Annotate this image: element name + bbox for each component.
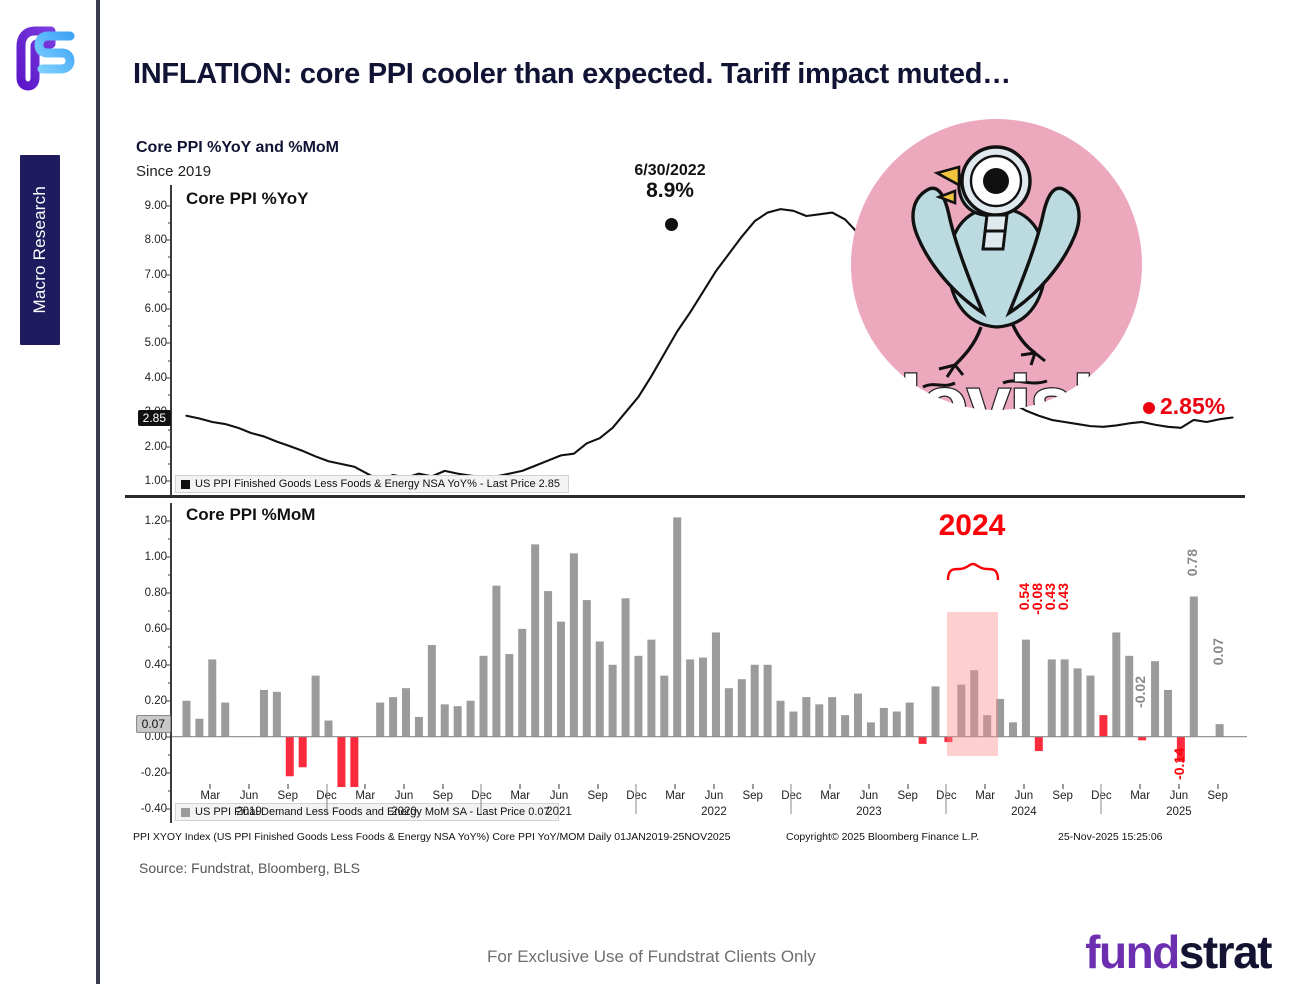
mom-bar xyxy=(1086,676,1094,737)
mom-bar xyxy=(596,641,604,736)
mom-bar xyxy=(673,517,681,736)
y-tick-mark-minor xyxy=(168,682,172,683)
mom-bar xyxy=(867,722,875,736)
bloomberg-timestamp: 25-Nov-2025 15:25:06 xyxy=(1058,831,1163,843)
peak-annotation: 6/30/2022 8.9% xyxy=(634,163,705,202)
x-year-label: 2025 xyxy=(1166,806,1192,818)
x-tick-label: Jun xyxy=(860,790,879,802)
bar-value-label: 0.43 xyxy=(1055,583,1071,610)
x-tick-label: Jun xyxy=(1170,790,1189,802)
mom-last-price-badge: 0.07 xyxy=(136,715,171,733)
y-tick-label: 1.00 xyxy=(145,475,167,487)
y-tick-mark xyxy=(166,274,172,275)
y-tick-mark-minor xyxy=(168,574,172,575)
mom-bar xyxy=(815,704,823,736)
y-tick-mark-minor xyxy=(168,257,172,258)
mom-bar xyxy=(428,645,436,737)
y-tick-mark-minor xyxy=(168,646,172,647)
x-tick-label: Sep xyxy=(433,790,453,802)
y-tick-label: -0.40 xyxy=(141,803,167,815)
x-tick-mark xyxy=(830,784,831,789)
mom-bar xyxy=(337,737,345,787)
x-tick-label: Mar xyxy=(975,790,995,802)
mom-bar xyxy=(350,737,358,787)
mom-bar xyxy=(712,632,720,736)
peak-value: 8.9% xyxy=(634,180,705,202)
y-tick-label: 1.00 xyxy=(145,551,167,563)
macro-research-badge: Macro Research xyxy=(20,155,60,345)
bloomberg-copyright: Copyright© 2025 Bloomberg Finance L.P. xyxy=(786,831,979,843)
y-tick-mark-minor xyxy=(168,429,172,430)
mom-bar xyxy=(686,659,694,736)
x-tick-mark xyxy=(249,784,250,789)
y-tick-mark xyxy=(166,592,172,593)
y-tick-label: 1.20 xyxy=(145,515,167,527)
mom-bar xyxy=(660,676,668,737)
x-tick-label: Jun xyxy=(550,790,569,802)
y-tick-mark xyxy=(166,736,172,737)
mom-bar xyxy=(1216,724,1224,737)
mom-bar-series xyxy=(172,503,1247,823)
mom-bar xyxy=(195,719,203,737)
x-tick-mark xyxy=(442,784,443,789)
x-tick-mark xyxy=(713,784,714,789)
mom-bar xyxy=(583,600,591,737)
y-tick-mark xyxy=(166,628,172,629)
y-tick-mark xyxy=(166,700,172,701)
last-value-label: 2.85% xyxy=(1160,393,1225,420)
x-tick-mark xyxy=(1062,784,1063,789)
y-tick-label: -0.20 xyxy=(141,767,167,779)
mom-bar xyxy=(1009,722,1017,736)
mom-bar xyxy=(557,622,565,737)
x-tick-mark xyxy=(365,784,366,789)
x-tick-mark xyxy=(1217,784,1218,789)
bar-value-label: 0.07 xyxy=(1210,638,1226,665)
mom-bar xyxy=(751,665,759,737)
y-tick-label: 0.40 xyxy=(145,659,167,671)
fundstrat-f-logo-icon xyxy=(18,26,80,90)
fundstrat-wordmark-strat: strat xyxy=(1179,926,1271,978)
x-tick-mark xyxy=(287,784,288,789)
x-year-divider xyxy=(1101,784,1102,814)
x-tick-label: Sep xyxy=(897,790,917,802)
highlight-brace-icon xyxy=(947,563,999,581)
x-tick-label: Mar xyxy=(200,790,220,802)
source-note: Source: Fundstrat, Bloomberg, BLS xyxy=(139,860,360,876)
yoy-legend-swatch xyxy=(181,480,190,489)
x-tick-label: Sep xyxy=(1052,790,1072,802)
mom-bar xyxy=(828,697,836,737)
x-tick-label: Sep xyxy=(742,790,762,802)
x-tick-mark xyxy=(907,784,908,789)
x-year-divider xyxy=(946,784,947,814)
mom-plot: Core PPI %MoM US PPI Final Demand Less F… xyxy=(170,503,1245,823)
y-tick-mark-minor xyxy=(168,222,172,223)
mom-bar xyxy=(854,694,862,737)
y-tick-mark xyxy=(166,377,172,378)
y-tick-mark xyxy=(166,664,172,665)
x-year-label: 2024 xyxy=(1011,806,1037,818)
y-tick-mark xyxy=(166,205,172,206)
bloomberg-index-note: PPI XYOY Index (US PPI Finished Goods Le… xyxy=(133,831,730,843)
mom-bar xyxy=(919,737,927,744)
mom-bar xyxy=(402,688,410,737)
mom-bar xyxy=(841,715,849,737)
y-tick-mark-minor xyxy=(168,360,172,361)
x-tick-label: Sep xyxy=(278,790,298,802)
y-tick-label: 2.00 xyxy=(145,441,167,453)
x-tick-label: Jun xyxy=(1015,790,1034,802)
mom-bar xyxy=(260,690,268,737)
x-tick-mark xyxy=(1140,784,1141,789)
fundstrat-wordmark: fundstrat xyxy=(1085,925,1271,979)
chart-title: Core PPI %YoY and %MoM xyxy=(136,139,339,157)
mom-bar xyxy=(479,656,487,737)
y-tick-mark xyxy=(166,556,172,557)
mom-bar xyxy=(208,659,216,736)
x-tick-mark xyxy=(558,784,559,789)
y-tick-mark-minor xyxy=(168,610,172,611)
mom-panel: Core PPI %MoM US PPI Final Demand Less F… xyxy=(125,503,1245,823)
mom-bar xyxy=(1151,661,1159,737)
x-tick-mark xyxy=(675,784,676,789)
mom-bar xyxy=(802,697,810,737)
mom-bar xyxy=(634,656,642,737)
page-title: INFLATION: core PPI cooler than expected… xyxy=(133,58,1011,91)
x-tick-mark xyxy=(597,784,598,789)
mom-bar xyxy=(932,686,940,736)
bar-value-label: 0.78 xyxy=(1184,549,1200,576)
left-rail: Macro Research xyxy=(0,0,96,984)
x-year-label: 2019 xyxy=(236,806,262,818)
x-tick-label: Mar xyxy=(665,790,685,802)
mom-bar xyxy=(518,629,526,737)
y-tick-label: 0.60 xyxy=(145,623,167,635)
mom-bar xyxy=(505,654,513,737)
mom-bar xyxy=(880,708,888,737)
mom-bar xyxy=(647,640,655,737)
mom-bar xyxy=(273,692,281,737)
mom-bar xyxy=(570,553,578,736)
yoy-legend: US PPI Finished Goods Less Foods & Energ… xyxy=(175,475,569,493)
mom-bar xyxy=(1099,715,1107,737)
x-tick-label: Sep xyxy=(587,790,607,802)
y-tick-label: 0.20 xyxy=(145,695,167,707)
mom-bar xyxy=(467,701,475,737)
chart-subtitle: Since 2019 xyxy=(136,163,211,180)
highlight-band-2024 xyxy=(947,612,998,756)
y-tick-mark-minor xyxy=(168,538,172,539)
x-tick-label: Mar xyxy=(510,790,530,802)
x-tick-label: Mar xyxy=(820,790,840,802)
mom-bar xyxy=(893,712,901,737)
last-value-marker-dot xyxy=(1143,402,1155,414)
y-tick-mark-minor xyxy=(168,395,172,396)
y-tick-mark xyxy=(166,446,172,447)
x-tick-mark xyxy=(520,784,521,789)
y-tick-mark xyxy=(166,481,172,482)
mom-bar xyxy=(492,586,500,737)
x-tick-label: Jun xyxy=(705,790,724,802)
x-tick-mark xyxy=(752,784,753,789)
y-tick-mark-minor xyxy=(168,754,172,755)
dovish-word: dovish xyxy=(851,364,1142,410)
y-tick-mark xyxy=(166,309,172,310)
mom-bar xyxy=(777,701,785,737)
y-tick-label: 7.00 xyxy=(145,269,167,281)
mom-bar xyxy=(1190,596,1198,736)
mom-bar xyxy=(1074,668,1082,736)
mom-bar xyxy=(389,697,397,737)
peak-date: 6/30/2022 xyxy=(634,163,705,180)
y-tick-label: 8.00 xyxy=(145,234,167,246)
mom-bar xyxy=(1164,690,1172,737)
rail-divider xyxy=(96,0,100,984)
yoy-last-price-badge: 2.85 xyxy=(138,410,171,426)
mom-bar xyxy=(454,706,462,737)
bar-value-label: -0.14 xyxy=(1171,748,1187,780)
dovish-badge: dovish xyxy=(851,119,1142,410)
exclusive-use-note: For Exclusive Use of Fundstrat Clients O… xyxy=(487,947,816,967)
y-tick-mark-minor xyxy=(168,291,172,292)
mom-bar xyxy=(906,703,914,737)
yoy-legend-label: US PPI Finished Goods Less Foods & Energ… xyxy=(195,478,560,490)
x-axis: MarJunSepDecMarJunSepDecMarJunSepDecMarJ… xyxy=(170,790,1245,832)
mom-bar xyxy=(1035,737,1043,751)
x-tick-label: Jun xyxy=(395,790,414,802)
x-year-divider xyxy=(791,784,792,814)
x-tick-label: Sep xyxy=(1207,790,1227,802)
x-year-label: 2022 xyxy=(701,806,727,818)
y-tick-label: 0.80 xyxy=(145,587,167,599)
y-tick-mark xyxy=(166,772,172,773)
y-tick-mark xyxy=(166,343,172,344)
x-year-divider xyxy=(481,784,482,814)
mom-bar xyxy=(376,703,384,737)
mom-bar xyxy=(622,598,630,736)
fundstrat-wordmark-fund: fund xyxy=(1085,926,1179,978)
x-tick-mark xyxy=(985,784,986,789)
mom-bar xyxy=(738,679,746,737)
highlight-year-label: 2024 xyxy=(939,509,1006,543)
mom-bar xyxy=(325,721,333,737)
x-tick-label: Mar xyxy=(355,790,375,802)
mom-bar xyxy=(182,701,190,737)
x-year-label: 2021 xyxy=(546,806,572,818)
x-year-label: 2023 xyxy=(856,806,882,818)
mom-bar xyxy=(789,712,797,737)
mom-bar xyxy=(299,737,307,768)
mom-bar xyxy=(531,544,539,736)
x-tick-mark xyxy=(210,784,211,789)
mom-bar xyxy=(764,665,772,737)
x-year-divider xyxy=(636,784,637,814)
mom-bar xyxy=(609,665,617,737)
y-tick-mark xyxy=(166,520,172,521)
mom-bar xyxy=(699,658,707,737)
mom-bar xyxy=(725,688,733,737)
mom-bar xyxy=(221,703,229,737)
mom-bar xyxy=(1061,659,1069,736)
y-tick-label: 9.00 xyxy=(145,200,167,212)
y-tick-label: 4.00 xyxy=(145,372,167,384)
x-tick-mark xyxy=(404,784,405,789)
mom-bar xyxy=(1112,632,1120,736)
mom-bar xyxy=(1022,640,1030,737)
mom-bar xyxy=(441,704,449,736)
x-tick-label: Mar xyxy=(1130,790,1150,802)
y-tick-label: 5.00 xyxy=(145,337,167,349)
mom-bar xyxy=(312,676,320,737)
x-year-label: 2020 xyxy=(391,806,417,818)
mom-bar xyxy=(286,737,294,777)
y-tick-mark xyxy=(166,240,172,241)
bar-value-label: -0.02 xyxy=(1132,676,1148,708)
x-year-divider xyxy=(326,784,327,814)
y-tick-mark-minor xyxy=(168,464,172,465)
x-tick-mark xyxy=(1178,784,1179,789)
panel-divider xyxy=(125,495,1245,498)
x-tick-mark xyxy=(868,784,869,789)
mom-bar xyxy=(1048,659,1056,736)
peak-marker-dot xyxy=(665,218,678,231)
mom-bar xyxy=(544,591,552,737)
macro-research-label: Macro Research xyxy=(30,186,50,314)
x-tick-label: Jun xyxy=(240,790,259,802)
x-tick-mark xyxy=(1023,784,1024,789)
mom-bar xyxy=(415,717,423,737)
y-tick-mark-minor xyxy=(168,326,172,327)
y-tick-label: 6.00 xyxy=(145,303,167,315)
